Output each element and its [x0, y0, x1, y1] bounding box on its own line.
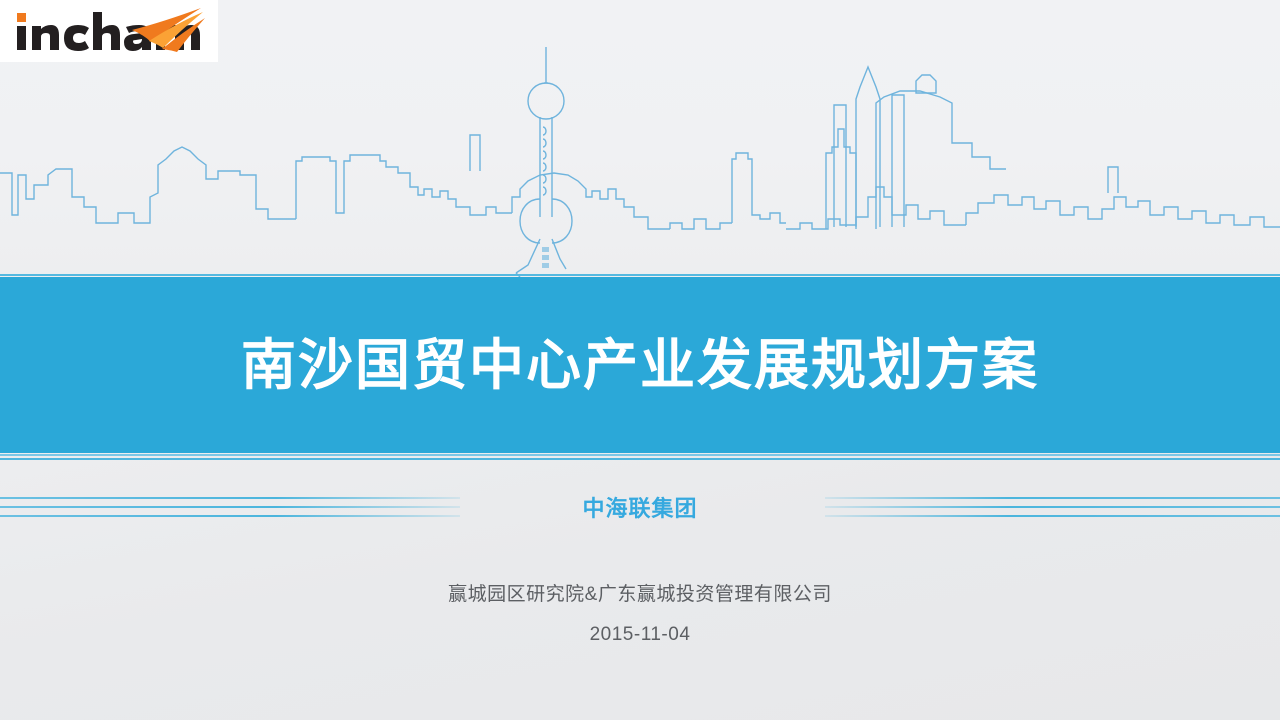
band-top-divider [0, 274, 1280, 276]
organization-name: 中海联集团 [460, 491, 820, 523]
decorative-rule-line [0, 497, 460, 499]
band-bottom-divider-inner [0, 458, 1280, 460]
oriental-pearl-tower [516, 47, 572, 277]
band-bottom-divider-outer [0, 454, 1280, 456]
decorative-rule-line [0, 515, 460, 517]
decorative-rules-left [0, 495, 460, 519]
decorative-rule-line [825, 515, 1280, 517]
decorative-rule-line [825, 506, 1280, 508]
footer-company-name: 赢城园区研究院&广东赢城投资管理有限公司 [0, 578, 1280, 612]
page-title: 南沙国贸中心产业发展规划方案 [241, 338, 1039, 393]
decorative-rules-right [825, 495, 1280, 519]
decorative-rule-line [825, 497, 1280, 499]
city-skyline-outline-icon [0, 47, 1280, 277]
footer-date: 2015-11-04 [0, 618, 1280, 652]
title-banner: 南沙国贸中心产业发展规划方案 [0, 277, 1280, 453]
brand-logo-container [0, 0, 218, 62]
incham-logo-icon [11, 8, 207, 54]
organization-row: 中海联集团 [0, 482, 1280, 532]
presentation-title-slide: 南沙国贸中心产业发展规划方案 中海联集团 赢城园区研究院&广东赢城投资管理有限公… [0, 0, 1280, 720]
footer-block: 赢城园区研究院&广东赢城投资管理有限公司 2015-11-04 [0, 578, 1280, 652]
decorative-rule-line [0, 506, 460, 508]
